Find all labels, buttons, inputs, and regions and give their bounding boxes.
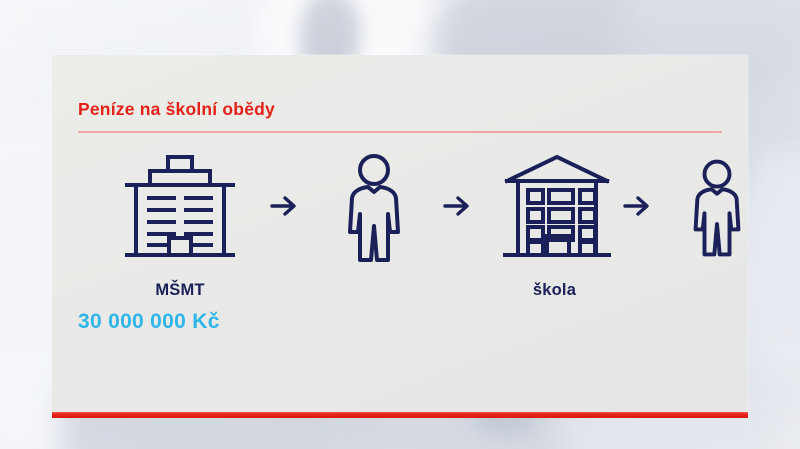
title-divider bbox=[78, 131, 722, 133]
infographic-stage: Peníze na školní obědy bbox=[0, 0, 800, 449]
arrow-right-icon-2 bbox=[440, 193, 474, 219]
arrow-right-icon-3 bbox=[620, 193, 654, 219]
arrow-right-icon bbox=[442, 195, 472, 217]
person-icon bbox=[343, 152, 405, 264]
page-title: Peníze na školní obědy bbox=[78, 99, 275, 120]
card-bottom-accent-bar bbox=[52, 412, 748, 418]
school-building-icon bbox=[501, 152, 613, 264]
label-ministry: MŠMT bbox=[104, 281, 256, 300]
amount-value: 30 000 000 Kč bbox=[78, 310, 220, 334]
flow-node-pupil bbox=[677, 145, 757, 270]
ministry-building-icon bbox=[121, 152, 239, 264]
arrow-right-icon-1 bbox=[267, 193, 301, 219]
arrow-right-icon bbox=[269, 195, 299, 217]
flow-node-school bbox=[487, 145, 627, 270]
label-school: škola bbox=[482, 281, 627, 300]
flow-diagram bbox=[52, 145, 748, 275]
arrow-right-icon bbox=[622, 195, 652, 217]
person-icon bbox=[689, 158, 745, 258]
flow-node-official bbox=[335, 145, 413, 270]
flow-node-ministry bbox=[104, 145, 256, 270]
infographic-card: Peníze na školní obědy bbox=[52, 55, 748, 415]
